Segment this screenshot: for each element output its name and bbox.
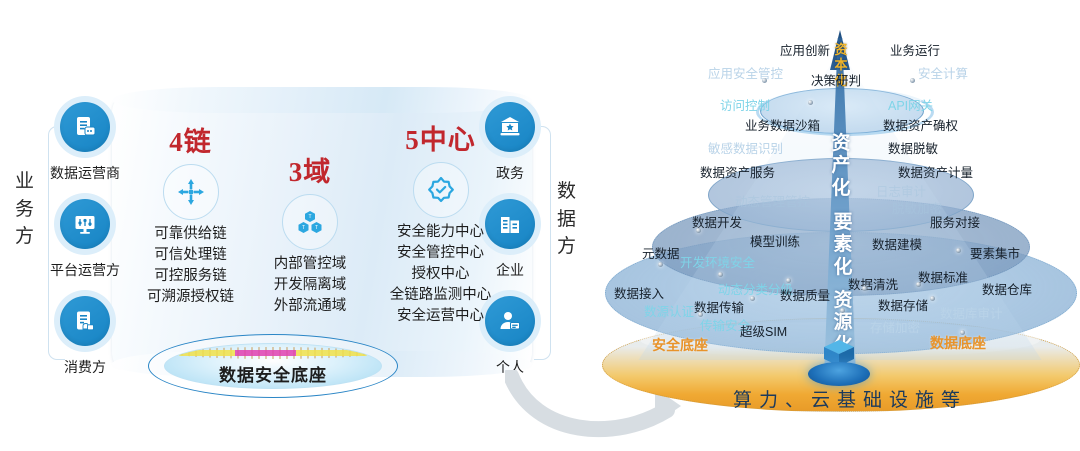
pillar-item: 安全管控中心 xyxy=(368,243,513,264)
monitor-settings-icon xyxy=(60,199,110,249)
foundation-label-data: 数据底座 xyxy=(930,338,986,352)
connector-dot xyxy=(808,100,813,105)
left-architecture-panel: 业务方 数据方 数据运营商 xyxy=(0,0,600,451)
right-cone-panel: 资本化 资产化 要素化 资源化 应用创新业务运行应用安全管控安全计算决策研判访问… xyxy=(600,0,1080,451)
actor-platform-operator[interactable]: 平台运营方 xyxy=(30,193,140,280)
pillar-item: 可信处理链 xyxy=(128,245,253,266)
capability-node: 日志审计 xyxy=(876,186,926,199)
pillar-item: 可溯源授权链 xyxy=(128,287,253,308)
connector-dot xyxy=(750,296,755,301)
capability-node: 服务对接 xyxy=(930,217,980,230)
infrastructure-core-icon xyxy=(808,362,870,386)
capability-node: 超级SIM xyxy=(740,326,787,339)
svg-text:T: T xyxy=(315,225,318,231)
pillar-heading: 5中心 xyxy=(368,126,513,156)
capability-node: 数据仓库 xyxy=(982,284,1032,297)
pillar-heading: 4链 xyxy=(128,128,253,158)
connector-dot xyxy=(862,286,867,291)
connector-dot xyxy=(696,228,701,233)
pillar-item: 外部流通域 xyxy=(250,296,370,317)
capability-node: 脱敏加密 xyxy=(892,203,942,216)
capability-node: 开发环境安全 xyxy=(680,257,755,270)
capability-node: 应用创新 xyxy=(780,45,830,58)
pillar-item: 安全运营中心 xyxy=(368,306,513,327)
connector-dot xyxy=(960,330,965,335)
svg-text:T: T xyxy=(308,214,311,220)
capability-node: 数据资产确权 xyxy=(883,120,958,133)
pillar-3-domains: 3域 TTT 内部管控域 开发隔离域 外部流通域 xyxy=(250,158,370,317)
pillar-5-centers: 5中心 安全能力中心 安全管控中心 授权中心 全链路监测中心 安全运营中心 xyxy=(368,126,513,327)
capability-node: 数据清洗 xyxy=(848,279,898,292)
spire-level-asset: 资产化 xyxy=(828,133,854,200)
capability-node: 敏感数据识别 xyxy=(708,143,783,156)
connector-dot xyxy=(698,312,703,317)
data-security-foundation: 数据安全底座 xyxy=(148,334,398,398)
pillar-item: 可控服务链 xyxy=(128,266,253,287)
capability-node: 安全计算 xyxy=(918,68,968,81)
pillar-item: 内部管控域 xyxy=(250,254,370,275)
infrastructure-label: 算力、云基础设施等 xyxy=(660,385,1040,412)
document-chat-icon xyxy=(60,102,110,152)
actor-data-operator[interactable]: 数据运营商 xyxy=(30,96,140,183)
converge-arrows-icon xyxy=(163,164,219,220)
pillar-item: 开发隔离域 xyxy=(250,275,370,296)
capability-node: 数据接入 xyxy=(614,288,664,301)
actor-label: 数据运营商 xyxy=(30,163,140,183)
capability-node: 数据存储 xyxy=(878,300,928,313)
capability-node: 数据资产计量 xyxy=(898,167,973,180)
capability-node: API网关 xyxy=(888,100,933,113)
capability-node: 业务数据沙箱 xyxy=(745,120,820,133)
cubes-stack-icon: TTT xyxy=(282,194,338,250)
capability-node: 数据质量 xyxy=(780,290,830,303)
connector-dot xyxy=(762,78,767,83)
capability-node: 数据脱敏 xyxy=(888,143,938,156)
pillar-heading: 3域 xyxy=(250,158,370,188)
document-hand-icon xyxy=(60,296,110,346)
capability-node: 业务运行 xyxy=(890,45,940,58)
connector-dot xyxy=(910,78,915,83)
connector-dot xyxy=(658,262,663,267)
actor-halo xyxy=(54,96,116,158)
star-check-icon xyxy=(413,162,469,218)
connector-dot xyxy=(786,278,791,283)
capability-node: 数据资产服务 xyxy=(700,167,775,180)
pillar-item: 安全能力中心 xyxy=(368,222,513,243)
capability-node: 决策研判 xyxy=(811,75,861,88)
connector-dot xyxy=(840,308,845,313)
capability-node: 数据建模 xyxy=(872,239,922,252)
actor-label: 消费方 xyxy=(30,357,140,377)
actor-halo xyxy=(54,290,116,352)
capability-node: 动态管理管控 xyxy=(735,196,810,209)
pillar-4-chains: 4链 可靠供给链 可信处理链 可控服务链 可溯源授权链 xyxy=(128,128,253,308)
connector-dot xyxy=(916,282,921,287)
foundation-color-band xyxy=(178,350,368,356)
actor-label: 平台运营方 xyxy=(30,260,140,280)
capability-node: 要素集市 xyxy=(970,248,1020,261)
foundation-label-security: 安全底座 xyxy=(652,340,708,354)
capability-node: 数据库审计 xyxy=(940,308,1003,321)
capability-node: 访问控制 xyxy=(720,100,770,113)
connector-dot xyxy=(930,296,935,301)
svg-text:T: T xyxy=(302,225,305,231)
capability-node: 元数据 xyxy=(642,248,680,261)
pillar-item: 全链路监测中心 xyxy=(368,285,513,306)
pillar-item: 可靠供给链 xyxy=(128,224,253,245)
capability-node: 模型训练 xyxy=(750,236,800,249)
connector-dot xyxy=(956,248,961,253)
foundation-label: 数据安全底座 xyxy=(148,361,398,386)
spire-level-factor: 要素化 xyxy=(830,212,856,279)
capability-node: 应用安全管控 xyxy=(708,68,783,81)
actor-halo xyxy=(54,193,116,255)
connector-dot xyxy=(718,272,723,277)
actor-consumer[interactable]: 消费方 xyxy=(30,290,140,377)
infographic-canvas: 业务方 数据方 数据运营商 xyxy=(0,0,1080,451)
capability-node: 存储加密 xyxy=(870,322,920,335)
capability-node: 数源认证 xyxy=(644,306,694,319)
capability-node: 数据标准 xyxy=(918,272,968,285)
pillar-item: 授权中心 xyxy=(368,264,513,285)
